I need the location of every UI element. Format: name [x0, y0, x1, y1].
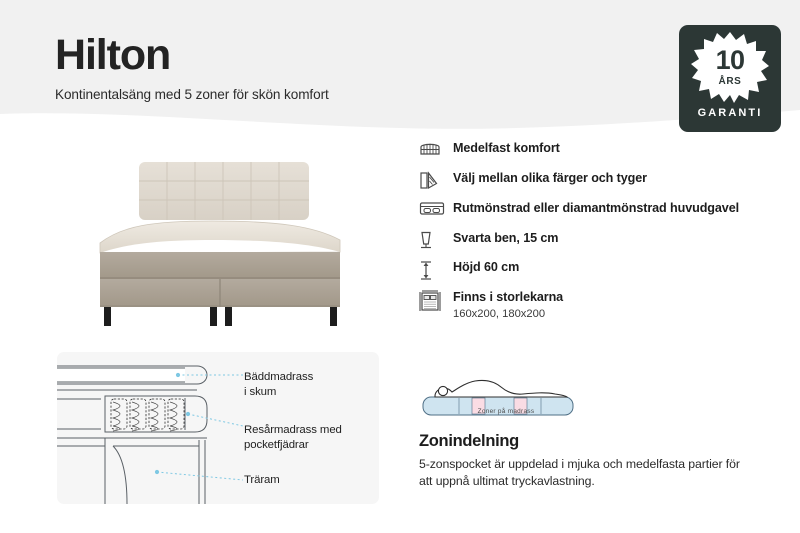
- feature-label: Medelfast komfort: [453, 141, 560, 157]
- bed-size-icon: [419, 288, 453, 313]
- pocket-springs: [111, 399, 184, 431]
- height-arrow-icon: [419, 258, 453, 281]
- product-info-sheet: Hilton Kontinentalsäng med 5 zoner för s…: [0, 0, 800, 533]
- warranty-badge: 10 ÅRS GARANTI: [679, 25, 781, 132]
- cross-section-label: Bäddmadrass i skum: [244, 370, 313, 399]
- warranty-years-unit: ÅRS: [719, 76, 742, 87]
- feature-label: Höjd 60 cm: [453, 260, 519, 276]
- feature-label: Rutmönstrad eller diamantmönstrad huvudg…: [453, 201, 739, 217]
- feature-row: Välj mellan olika färger och tyger: [419, 169, 779, 199]
- zone-section-body: 5-zonspocket är uppdelad i mjuka och med…: [419, 456, 749, 491]
- page-title: Hilton: [55, 33, 329, 78]
- feature-label: Välj mellan olika färger och tyger: [453, 171, 647, 187]
- mattress-firmness-icon: [419, 139, 453, 157]
- feature-label: Finns i storlekarna: [453, 290, 563, 306]
- feature-text: Finns i storlekarna 160x200, 180x200: [453, 288, 563, 321]
- feature-row: Rutmönstrad eller diamantmönstrad huvudg…: [419, 199, 779, 229]
- feature-text: Svarta ben, 15 cm: [453, 229, 558, 247]
- feature-row: Finns i storlekarna 160x200, 180x200: [419, 288, 779, 321]
- starburst-text: 10 ÅRS: [691, 30, 769, 104]
- feature-text: Välj mellan olika färger och tyger: [453, 169, 647, 187]
- feature-text: Rutmönstrad eller diamantmönstrad huvudg…: [453, 199, 739, 217]
- feature-sublabel: 160x200, 180x200: [453, 307, 563, 322]
- label-line-2: pocketfjädrar: [244, 439, 309, 451]
- zone-diagram-caption: Zoner på madrass: [446, 408, 566, 415]
- bed-leg-icon: [419, 229, 453, 250]
- bed-illustration: [62, 140, 362, 340]
- feature-row: Svarta ben, 15 cm: [419, 229, 779, 258]
- fabric-swatch-icon: [419, 169, 453, 190]
- person-on-mattress-diagram: [419, 368, 594, 426]
- cross-section-label: Träram: [244, 473, 280, 488]
- feature-text: Höjd 60 cm: [453, 258, 519, 276]
- warranty-label: GARANTI: [698, 107, 763, 119]
- leader-lines: [157, 375, 243, 480]
- feature-list: Medelfast komfort Välj mellan olika färg…: [419, 139, 779, 321]
- zone-illustration: [419, 368, 594, 426]
- starburst-shape: 10 ÅRS: [691, 30, 769, 104]
- label-line-2: i skum: [244, 386, 276, 398]
- zone-section-title: Zonindelning: [419, 432, 519, 451]
- label-line-1: Resårmadrass med: [244, 424, 342, 436]
- label-line-1: Träram: [244, 474, 280, 486]
- feature-row: Höjd 60 cm: [419, 258, 779, 288]
- product-photo: [62, 140, 362, 340]
- page-subtitle: Kontinentalsäng med 5 zoner för skön kom…: [55, 87, 329, 102]
- feature-label: Svarta ben, 15 cm: [453, 231, 558, 247]
- feature-row: Medelfast komfort: [419, 139, 779, 169]
- cross-section-label: Resårmadrass med pocketfjädrar: [244, 423, 342, 452]
- headboard-icon: [419, 199, 453, 216]
- label-line-1: Bäddmadrass: [244, 371, 313, 383]
- warranty-years: 10: [716, 47, 745, 74]
- feature-text: Medelfast komfort: [453, 139, 560, 157]
- title-block: Hilton Kontinentalsäng med 5 zoner för s…: [55, 33, 329, 102]
